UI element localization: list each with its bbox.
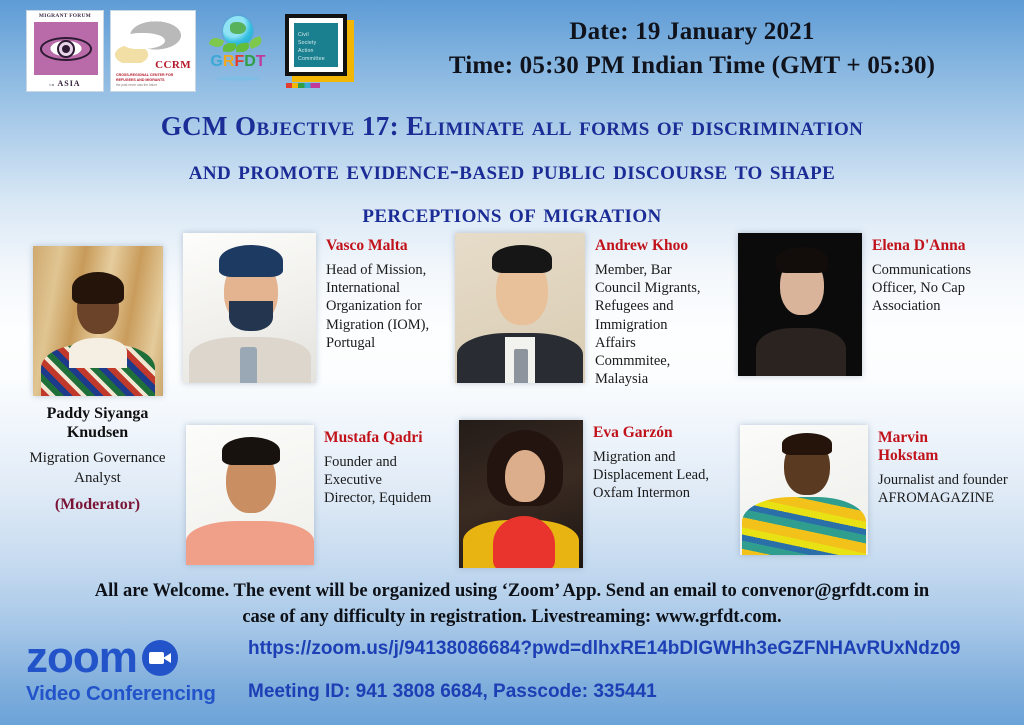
- photo-hair: [776, 247, 828, 273]
- speaker-name: Eva Garzón: [593, 424, 718, 442]
- speaker-name: Andrew Khoo: [595, 237, 710, 255]
- zoom-join-bar: zoom Video Conferencing https://zoom.us/…: [0, 632, 1024, 725]
- speaker-row-1: Vasco Malta Head of Mission, Internation…: [0, 233, 1024, 398]
- zoom-join-link[interactable]: https://zoom.us/j/94138086684?pwd=dlhxRE…: [248, 638, 961, 661]
- mfa-logo-top-text: MIGRANT FORUM: [27, 13, 103, 19]
- zoom-meeting-details: https://zoom.us/j/94138086684?pwd=dlhxRE…: [248, 638, 961, 703]
- mfa-logo-bottom-text: in ASIA: [27, 79, 103, 88]
- mfa-pupil-icon: [62, 45, 70, 53]
- speaker-title: Communications Officer, No Cap Associati…: [872, 261, 1012, 316]
- speaker-name: Marvin Hokstam: [878, 429, 1008, 465]
- speaker-card-eva-garzon: Eva Garzón Migration and Displacement Le…: [459, 420, 718, 568]
- title-line-1: GCM Objective 17: Eliminate all forms of…: [0, 105, 1024, 149]
- welcome-note: All are Welcome. The event will be organ…: [0, 578, 1024, 631]
- globe-icon: [223, 16, 253, 46]
- video-camera-icon: [142, 640, 178, 676]
- ccrm-logo-tagline: the past never was the future: [116, 83, 191, 87]
- speaker-name: Elena D'Anna: [872, 237, 1012, 255]
- speaker-photo-eva-garzon: [459, 420, 583, 568]
- grfdt-letter-d: D: [244, 53, 256, 70]
- grfdt-logo-shadow: [212, 76, 264, 81]
- csac-color-strip: [286, 83, 320, 88]
- migrant-forum-asia-logo: MIGRANT FORUM in ASIA: [26, 10, 104, 92]
- speaker-title: Member, Bar Council Migrants, Refugees a…: [595, 261, 710, 389]
- photo-face-front: [505, 450, 545, 502]
- welcome-line-1: All are Welcome. The event will be organ…: [30, 578, 994, 604]
- speaker-info-andrew-khoo: Andrew Khoo Member, Bar Council Migrants…: [585, 233, 710, 389]
- csac-logo-text: Civil Society Action Committee: [298, 31, 325, 63]
- event-datetime: Date: 19 January 2021 Time: 05:30 PM Ind…: [382, 16, 1002, 82]
- photo-hair: [222, 437, 280, 465]
- speaker-title: Head of Mission, International Organizat…: [326, 261, 436, 352]
- camera-lens-shape: [163, 653, 171, 663]
- speaker-card-marvin-hokstam: Marvin Hokstam Journalist and founder AF…: [740, 425, 1008, 555]
- speaker-name: Vasco Malta: [326, 237, 436, 255]
- organizer-logos: MIGRANT FORUM in ASIA CCRM CROSS-REGIONA…: [26, 10, 358, 92]
- speaker-title: Journalist and founder AFROMAGAZINE: [878, 471, 1008, 508]
- mfa-logo-eye-art: [34, 22, 98, 75]
- photo-beard: [229, 301, 273, 331]
- speaker-info-eva-garzon: Eva Garzón Migration and Displacement Le…: [583, 420, 718, 503]
- speaker-info-elena-danna: Elena D'Anna Communications Officer, No …: [862, 233, 1012, 316]
- photo-hair: [219, 245, 283, 277]
- grfdt-logo: GRFDT: [202, 10, 274, 92]
- speaker-info-vasco-malta: Vasco Malta Head of Mission, Internation…: [316, 233, 436, 352]
- photo-torso: [756, 328, 846, 376]
- speaker-title: Migration and Displacement Lead, Oxfam I…: [593, 448, 718, 503]
- grfdt-letter-r: R: [223, 53, 235, 70]
- photo-scarf: [493, 516, 555, 568]
- speaker-photo-marvin-hokstam: [740, 425, 868, 555]
- zoom-wordmark-text: zoom: [26, 636, 137, 680]
- speaker-row-2: Mustafa Qadri Founder and Executive Dire…: [0, 415, 1024, 575]
- zoom-tagline: Video Conferencing: [26, 682, 236, 706]
- speaker-photo-mustafa-qadri: [186, 425, 314, 565]
- civil-society-action-committee-logo: Civil Society Action Committee: [280, 10, 358, 92]
- ccrm-logo-title: CCRM: [155, 59, 191, 71]
- speaker-photo-elena-danna: [738, 233, 862, 376]
- mfa-iris-icon: [57, 40, 75, 58]
- camera-body-shape: [149, 652, 164, 664]
- grfdt-letter-t: T: [256, 53, 266, 70]
- zoom-logo: zoom Video Conferencing: [26, 636, 236, 706]
- event-date: Date: 19 January 2021: [382, 16, 1002, 49]
- photo-necktie: [514, 349, 528, 383]
- title-line-2: and promote evidence-based public discou…: [0, 149, 1024, 193]
- photo-necktie: [240, 347, 257, 383]
- speaker-title: Founder and Executive Director, Equidem: [324, 453, 434, 508]
- leaf-icon: [236, 43, 249, 53]
- photo-hair: [782, 433, 832, 455]
- ccrm-logo: CCRM CROSS-REGIONAL CENTER FOR REFUGEES …: [110, 10, 196, 92]
- speaker-info-marvin-hokstam: Marvin Hokstam Journalist and founder AF…: [868, 425, 1008, 507]
- speaker-photo-vasco-malta: [183, 233, 316, 383]
- webinar-poster: MIGRANT FORUM in ASIA CCRM CROSS-REGIONA…: [0, 0, 1024, 725]
- speaker-card-vasco-malta: Vasco Malta Head of Mission, Internation…: [183, 233, 436, 383]
- speaker-card-mustafa-qadri: Mustafa Qadri Founder and Executive Dire…: [186, 425, 434, 565]
- poster-header: MIGRANT FORUM in ASIA CCRM CROSS-REGIONA…: [0, 0, 1024, 105]
- zoom-wordmark: zoom: [26, 636, 236, 680]
- event-time: Time: 05:30 PM Indian Time (GMT + 05:30): [382, 49, 1002, 83]
- grfdt-wordmark: GRFDT: [202, 54, 274, 70]
- grfdt-letter-g: G: [210, 53, 222, 70]
- poster-title: GCM Objective 17: Eliminate all forms of…: [0, 105, 1024, 236]
- speaker-card-andrew-khoo: Andrew Khoo Member, Bar Council Migrants…: [455, 233, 710, 389]
- zoom-meeting-id-passcode: Meeting ID: 941 3808 6684, Passcode: 335…: [248, 681, 961, 703]
- speaker-info-mustafa-qadri: Mustafa Qadri Founder and Executive Dire…: [314, 425, 434, 508]
- leaf-icon: [223, 43, 236, 53]
- speaker-photo-andrew-khoo: [455, 233, 585, 383]
- welcome-line-2: case of any difficulty in registration. …: [30, 604, 994, 630]
- photo-hair: [492, 245, 552, 273]
- grfdt-letter-f: F: [234, 53, 244, 70]
- speaker-card-elena-danna: Elena D'Anna Communications Officer, No …: [738, 233, 1012, 376]
- photo-torso: [742, 497, 866, 555]
- title-line-3: perceptions of migration: [0, 192, 1024, 236]
- speaker-name: Mustafa Qadri: [324, 429, 434, 447]
- photo-torso: [186, 521, 314, 565]
- leaf-icon: [209, 36, 224, 49]
